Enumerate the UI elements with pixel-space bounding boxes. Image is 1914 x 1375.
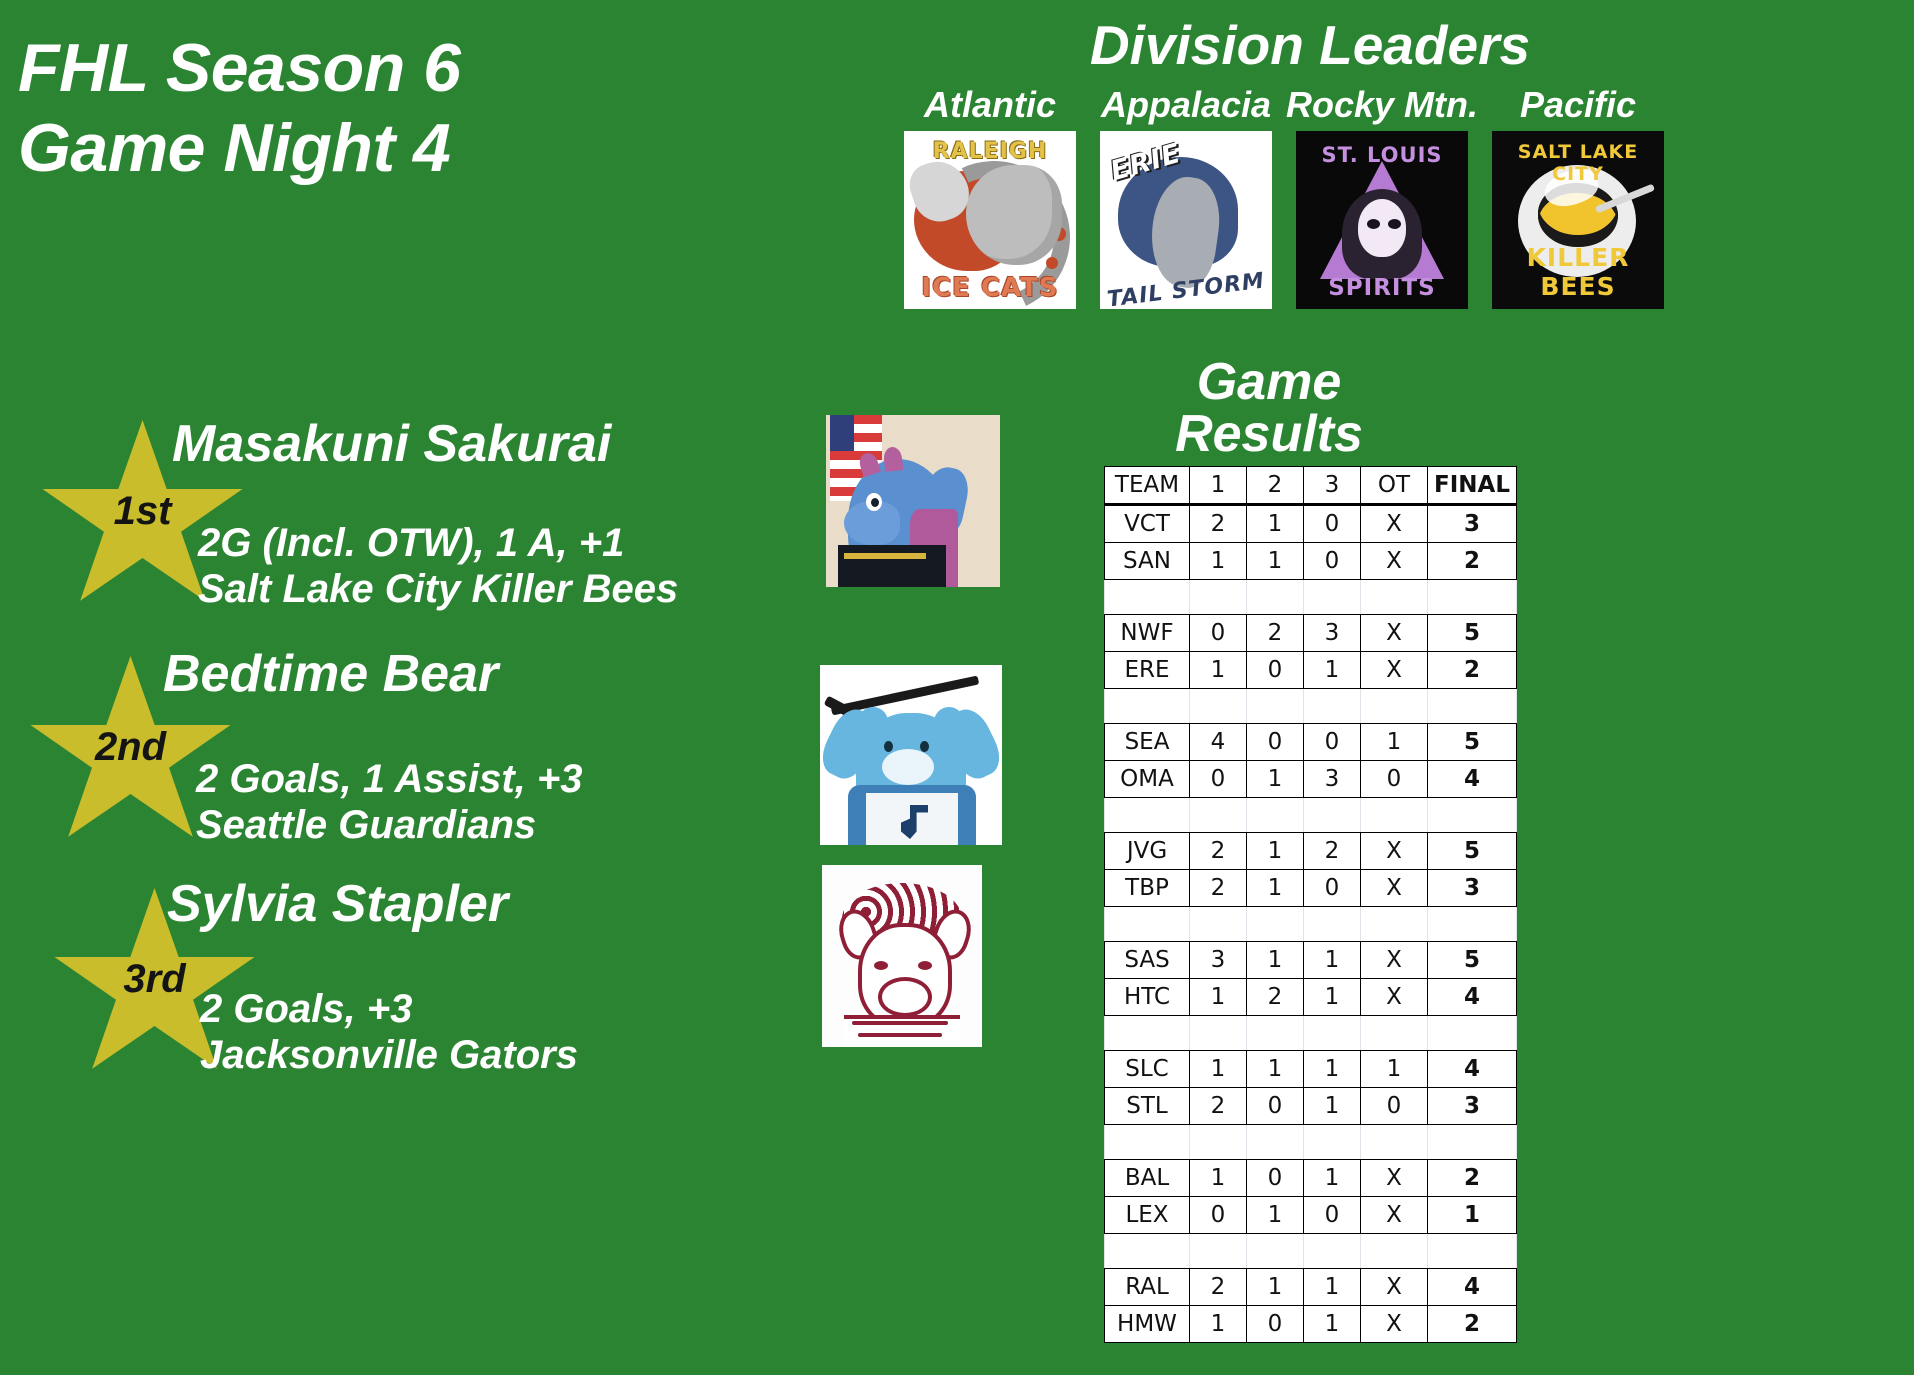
cell-3: 0 xyxy=(1304,870,1361,907)
cell-team: VCT xyxy=(1105,505,1190,543)
bear-eye-left xyxy=(884,741,893,752)
table-spacer-row xyxy=(1105,580,1517,615)
cell-1: 2 xyxy=(1190,1088,1247,1125)
cell-3: 1 xyxy=(1304,1051,1361,1088)
cell-2: 0 xyxy=(1247,724,1304,761)
cell-ot: X xyxy=(1361,1306,1428,1343)
raleigh-logo-bottom-text: ICE CATS xyxy=(904,273,1076,303)
cell-final: 5 xyxy=(1428,724,1517,761)
table-row: LEX010X1 xyxy=(1105,1197,1517,1234)
cell-ot: 0 xyxy=(1361,1088,1428,1125)
cell-final: 5 xyxy=(1428,833,1517,870)
division-name-pacific: Pacific xyxy=(1520,87,1636,123)
logo-erie-tail-storm[interactable]: ERIE TAIL STORM xyxy=(1100,131,1272,309)
spirits-logo-bottom-text: SPIRITS xyxy=(1296,275,1468,301)
cell-2: 2 xyxy=(1247,615,1304,652)
column-header-team: TEAM xyxy=(1105,467,1190,505)
table-row: ERE101X2 xyxy=(1105,652,1517,689)
cell-2: 2 xyxy=(1247,979,1304,1016)
sylvia-stapler-portrait xyxy=(822,865,982,1047)
cell-team: HTC xyxy=(1105,979,1190,1016)
raleigh-cat-head-icon xyxy=(966,165,1062,265)
dragon-uniform-trim xyxy=(844,553,926,559)
player-name-1st: Masakuni Sakurai xyxy=(172,418,611,470)
cell-3: 0 xyxy=(1304,724,1361,761)
spacer-cell xyxy=(1428,1016,1517,1051)
masakuni-sakurai-portrait xyxy=(826,415,1000,587)
spacer-cell xyxy=(1361,907,1428,942)
cell-ot: X xyxy=(1361,543,1428,580)
cell-team: TBP xyxy=(1105,870,1190,907)
cell-team: LEX xyxy=(1105,1197,1190,1234)
spacer-cell xyxy=(1428,1234,1517,1269)
spirits-logo-top-text: ST. LOUIS xyxy=(1296,143,1468,167)
cell-ot: X xyxy=(1361,505,1428,543)
cell-1: 1 xyxy=(1190,979,1247,1016)
bear-muzzle xyxy=(882,749,934,785)
spirits-eye-right xyxy=(1388,219,1401,229)
cell-2: 1 xyxy=(1247,942,1304,979)
cell-3: 1 xyxy=(1304,1160,1361,1197)
cell-3: 1 xyxy=(1304,1269,1361,1306)
player-name-2nd: Bedtime Bear xyxy=(163,648,498,700)
bedtime-bear-portrait xyxy=(820,665,1002,845)
cell-final: 4 xyxy=(1428,761,1517,798)
column-header-1: 1 xyxy=(1190,467,1247,505)
spacer-cell xyxy=(1361,798,1428,833)
cell-1: 0 xyxy=(1190,1197,1247,1234)
cell-team: STL xyxy=(1105,1088,1190,1125)
spacer-cell xyxy=(1247,1016,1304,1051)
spacer-cell xyxy=(1361,689,1428,724)
cell-team: RAL xyxy=(1105,1269,1190,1306)
game-results-heading: Game Results xyxy=(1104,356,1434,460)
cell-2: 1 xyxy=(1247,543,1304,580)
cell-3: 1 xyxy=(1304,652,1361,689)
eye-left xyxy=(874,961,888,970)
division-name-atlantic: Atlantic xyxy=(924,87,1056,123)
spacer-cell xyxy=(1190,689,1247,724)
cell-team: SAS xyxy=(1105,942,1190,979)
spacer-cell xyxy=(1190,798,1247,833)
table-spacer-row xyxy=(1105,1125,1517,1160)
cell-1: 4 xyxy=(1190,724,1247,761)
cell-ot: X xyxy=(1361,1197,1428,1234)
division-name-rocky-mtn: Rocky Mtn. xyxy=(1286,87,1478,123)
cell-team: ERE xyxy=(1105,652,1190,689)
spacer-cell xyxy=(1105,580,1190,615)
cell-3: 2 xyxy=(1304,833,1361,870)
table-row: NWF023X5 xyxy=(1105,615,1517,652)
cell-ot: X xyxy=(1361,979,1428,1016)
cell-final: 5 xyxy=(1428,615,1517,652)
logo-raleigh-ice-cats[interactable]: RALEIGH ICE CATS xyxy=(904,131,1076,309)
cell-1: 1 xyxy=(1190,1051,1247,1088)
table-row: SAS311X5 xyxy=(1105,942,1517,979)
table-row: BAL101X2 xyxy=(1105,1160,1517,1197)
dragon-pupil xyxy=(871,498,879,507)
cell-ot: X xyxy=(1361,870,1428,907)
cell-1: 2 xyxy=(1190,833,1247,870)
spacer-cell xyxy=(1304,907,1361,942)
cell-ot: X xyxy=(1361,615,1428,652)
logo-st-louis-spirits[interactable]: ST. LOUIS SPIRITS xyxy=(1296,131,1468,309)
cell-final: 5 xyxy=(1428,942,1517,979)
cell-final: 3 xyxy=(1428,870,1517,907)
spacer-cell xyxy=(1304,1125,1361,1160)
cell-team: BAL xyxy=(1105,1160,1190,1197)
cell-ot: X xyxy=(1361,1160,1428,1197)
column-header-3: 3 xyxy=(1304,467,1361,505)
table-spacer-row xyxy=(1105,1016,1517,1051)
cell-final: 4 xyxy=(1428,1269,1517,1306)
cell-3: 0 xyxy=(1304,543,1361,580)
cell-1: 1 xyxy=(1190,1160,1247,1197)
cell-1: 2 xyxy=(1190,505,1247,543)
spirits-skull-icon xyxy=(1358,199,1406,257)
spacer-cell xyxy=(1105,907,1190,942)
cell-1: 0 xyxy=(1190,615,1247,652)
torso-line-1 xyxy=(852,1021,948,1025)
division-column-appalacia: Appalacia ERIE TAIL STORM xyxy=(1088,87,1284,309)
division-leaders-section: Division Leaders Atlantic RALEIGH ICE CA… xyxy=(900,18,1900,309)
raleigh-dot-3 xyxy=(1046,257,1058,269)
killerbees-logo-top-text: SALT LAKE CITY xyxy=(1492,141,1664,185)
table-row: RAL211X4 xyxy=(1105,1269,1517,1306)
cell-team: SLC xyxy=(1105,1051,1190,1088)
spacer-cell xyxy=(1247,1234,1304,1269)
spacer-cell xyxy=(1105,1125,1190,1160)
division-column-pacific: Pacific SALT LAKE CITY KILLER BEES xyxy=(1480,87,1676,309)
cell-team: NWF xyxy=(1105,615,1190,652)
division-leaders-heading: Division Leaders xyxy=(1010,18,1610,73)
cell-3: 1 xyxy=(1304,979,1361,1016)
cell-3: 3 xyxy=(1304,615,1361,652)
cell-final: 4 xyxy=(1428,979,1517,1016)
torso-line-2 xyxy=(858,1033,942,1037)
spacer-cell xyxy=(1428,1125,1517,1160)
division-logo-row: Atlantic RALEIGH ICE CATS Appalacia xyxy=(892,87,1900,309)
cell-1: 1 xyxy=(1190,652,1247,689)
player-stats-1st: 2G (Incl. OTW), 1 A, +1 xyxy=(198,520,624,566)
spacer-cell xyxy=(1190,1234,1247,1269)
cell-1: 0 xyxy=(1190,761,1247,798)
cell-final: 4 xyxy=(1428,1051,1517,1088)
cell-team: HMW xyxy=(1105,1306,1190,1343)
cell-ot: X xyxy=(1361,833,1428,870)
cell-final: 2 xyxy=(1428,1306,1517,1343)
spacer-cell xyxy=(1304,1016,1361,1051)
cell-ot: X xyxy=(1361,942,1428,979)
cell-2: 0 xyxy=(1247,1306,1304,1343)
cell-team: JVG xyxy=(1105,833,1190,870)
table-row: STL20103 xyxy=(1105,1088,1517,1125)
cell-final: 3 xyxy=(1428,505,1517,543)
cell-2: 1 xyxy=(1247,1269,1304,1306)
column-header-2: 2 xyxy=(1247,467,1304,505)
cell-1: 2 xyxy=(1190,870,1247,907)
cell-team: SAN xyxy=(1105,543,1190,580)
cell-3: 0 xyxy=(1304,505,1361,543)
spacer-cell xyxy=(1190,580,1247,615)
cell-ot: 0 xyxy=(1361,761,1428,798)
page-title: FHL Season 6 Game Night 4 xyxy=(18,28,460,188)
spacer-cell xyxy=(1105,689,1190,724)
table-spacer-row xyxy=(1105,907,1517,942)
table-row: JVG212X5 xyxy=(1105,833,1517,870)
column-header-final: FINAL xyxy=(1428,467,1517,505)
flag-canton xyxy=(830,415,854,451)
spacer-cell xyxy=(1247,689,1304,724)
table-spacer-row xyxy=(1105,689,1517,724)
game-results-table[interactable]: TEAM123OTFINALVCT210X3SAN110X2 NWF023X5E… xyxy=(1104,466,1517,1343)
cell-2: 1 xyxy=(1247,761,1304,798)
cell-2: 1 xyxy=(1247,505,1304,543)
table-row: SAN110X2 xyxy=(1105,543,1517,580)
table-row: OMA01304 xyxy=(1105,761,1517,798)
cell-final: 2 xyxy=(1428,652,1517,689)
spacer-cell xyxy=(1247,798,1304,833)
spacer-cell xyxy=(1361,1234,1428,1269)
spacer-cell xyxy=(1190,1125,1247,1160)
spacer-cell xyxy=(1190,1016,1247,1051)
cell-3: 1 xyxy=(1304,1088,1361,1125)
spacer-cell xyxy=(1247,1125,1304,1160)
cell-2: 1 xyxy=(1247,1051,1304,1088)
spacer-cell xyxy=(1428,798,1517,833)
cell-3: 1 xyxy=(1304,1306,1361,1343)
cell-3: 3 xyxy=(1304,761,1361,798)
cell-final: 2 xyxy=(1428,1160,1517,1197)
killerbees-logo-bottom-text: KILLER BEES xyxy=(1492,243,1664,301)
cell-2: 0 xyxy=(1247,1160,1304,1197)
cell-3: 1 xyxy=(1304,942,1361,979)
cell-2: 0 xyxy=(1247,652,1304,689)
division-column-atlantic: Atlantic RALEIGH ICE CATS xyxy=(892,87,1088,309)
cell-1: 2 xyxy=(1190,1269,1247,1306)
cell-2: 1 xyxy=(1247,870,1304,907)
cell-ot: X xyxy=(1361,1269,1428,1306)
spirits-eye-left xyxy=(1367,219,1380,229)
spacer-cell xyxy=(1304,689,1361,724)
cell-team: SEA xyxy=(1105,724,1190,761)
spacer-cell xyxy=(1361,580,1428,615)
spacer-cell xyxy=(1105,1016,1190,1051)
player-name-3rd: Sylvia Stapler xyxy=(167,878,508,930)
division-column-rocky-mtn: Rocky Mtn. ST. LOUIS SPIRITS xyxy=(1284,87,1480,309)
spacer-cell xyxy=(1361,1125,1428,1160)
table-row: TBP210X3 xyxy=(1105,870,1517,907)
torso xyxy=(844,1015,960,1047)
cell-final: 3 xyxy=(1428,1088,1517,1125)
player-stats-3rd: 2 Goals, +3 xyxy=(200,986,412,1032)
bear-eye-right xyxy=(920,741,929,752)
spacer-cell xyxy=(1190,907,1247,942)
spacer-cell xyxy=(1247,907,1304,942)
spacer-cell xyxy=(1105,798,1190,833)
muzzle xyxy=(878,977,932,1017)
cell-2: 1 xyxy=(1247,833,1304,870)
spacer-cell xyxy=(1428,907,1517,942)
logo-salt-lake-city-killer-bees[interactable]: SALT LAKE CITY KILLER BEES xyxy=(1492,131,1664,309)
spacer-cell xyxy=(1304,798,1361,833)
table-row: HMW101X2 xyxy=(1105,1306,1517,1343)
table-header-row: TEAM123OTFINAL xyxy=(1105,467,1517,505)
player-team-1st: Salt Lake City Killer Bees xyxy=(198,566,678,612)
dragon-horn-right xyxy=(883,446,903,472)
spacer-cell xyxy=(1361,1016,1428,1051)
spacer-cell xyxy=(1304,1234,1361,1269)
slide-canvas: FHL Season 6 Game Night 4 Division Leade… xyxy=(0,0,1914,1375)
player-team-3rd: Jacksonville Gators xyxy=(200,1032,578,1078)
column-header-ot: OT xyxy=(1361,467,1428,505)
cell-1: 1 xyxy=(1190,1306,1247,1343)
eye-right xyxy=(918,961,932,970)
raleigh-logo-top-text: RALEIGH xyxy=(904,139,1076,164)
table-row: VCT210X3 xyxy=(1105,505,1517,543)
cell-ot: X xyxy=(1361,652,1428,689)
spacer-cell xyxy=(1105,1234,1190,1269)
table-spacer-row xyxy=(1105,798,1517,833)
cell-team: OMA xyxy=(1105,761,1190,798)
cell-1: 1 xyxy=(1190,543,1247,580)
player-stats-2nd: 2 Goals, 1 Assist, +3 xyxy=(196,756,583,802)
table-row: SEA40015 xyxy=(1105,724,1517,761)
division-name-appalacia: Appalacia xyxy=(1101,87,1271,123)
table-row: SLC11114 xyxy=(1105,1051,1517,1088)
table-spacer-row xyxy=(1105,1234,1517,1269)
cell-ot: 1 xyxy=(1361,724,1428,761)
spacer-cell xyxy=(1304,580,1361,615)
cell-2: 1 xyxy=(1247,1197,1304,1234)
game-results-section: Game Results TEAM123OTFINALVCT210X3SAN11… xyxy=(1104,356,1517,1343)
dragon-uniform xyxy=(838,545,946,587)
spacer-cell xyxy=(1247,580,1304,615)
spacer-cell xyxy=(1428,689,1517,724)
cell-3: 0 xyxy=(1304,1197,1361,1234)
cell-1: 3 xyxy=(1190,942,1247,979)
cell-final: 1 xyxy=(1428,1197,1517,1234)
cell-2: 0 xyxy=(1247,1088,1304,1125)
player-team-2nd: Seattle Guardians xyxy=(196,802,536,848)
cell-ot: 1 xyxy=(1361,1051,1428,1088)
table-row: HTC121X4 xyxy=(1105,979,1517,1016)
cell-final: 2 xyxy=(1428,543,1517,580)
spacer-cell xyxy=(1428,580,1517,615)
